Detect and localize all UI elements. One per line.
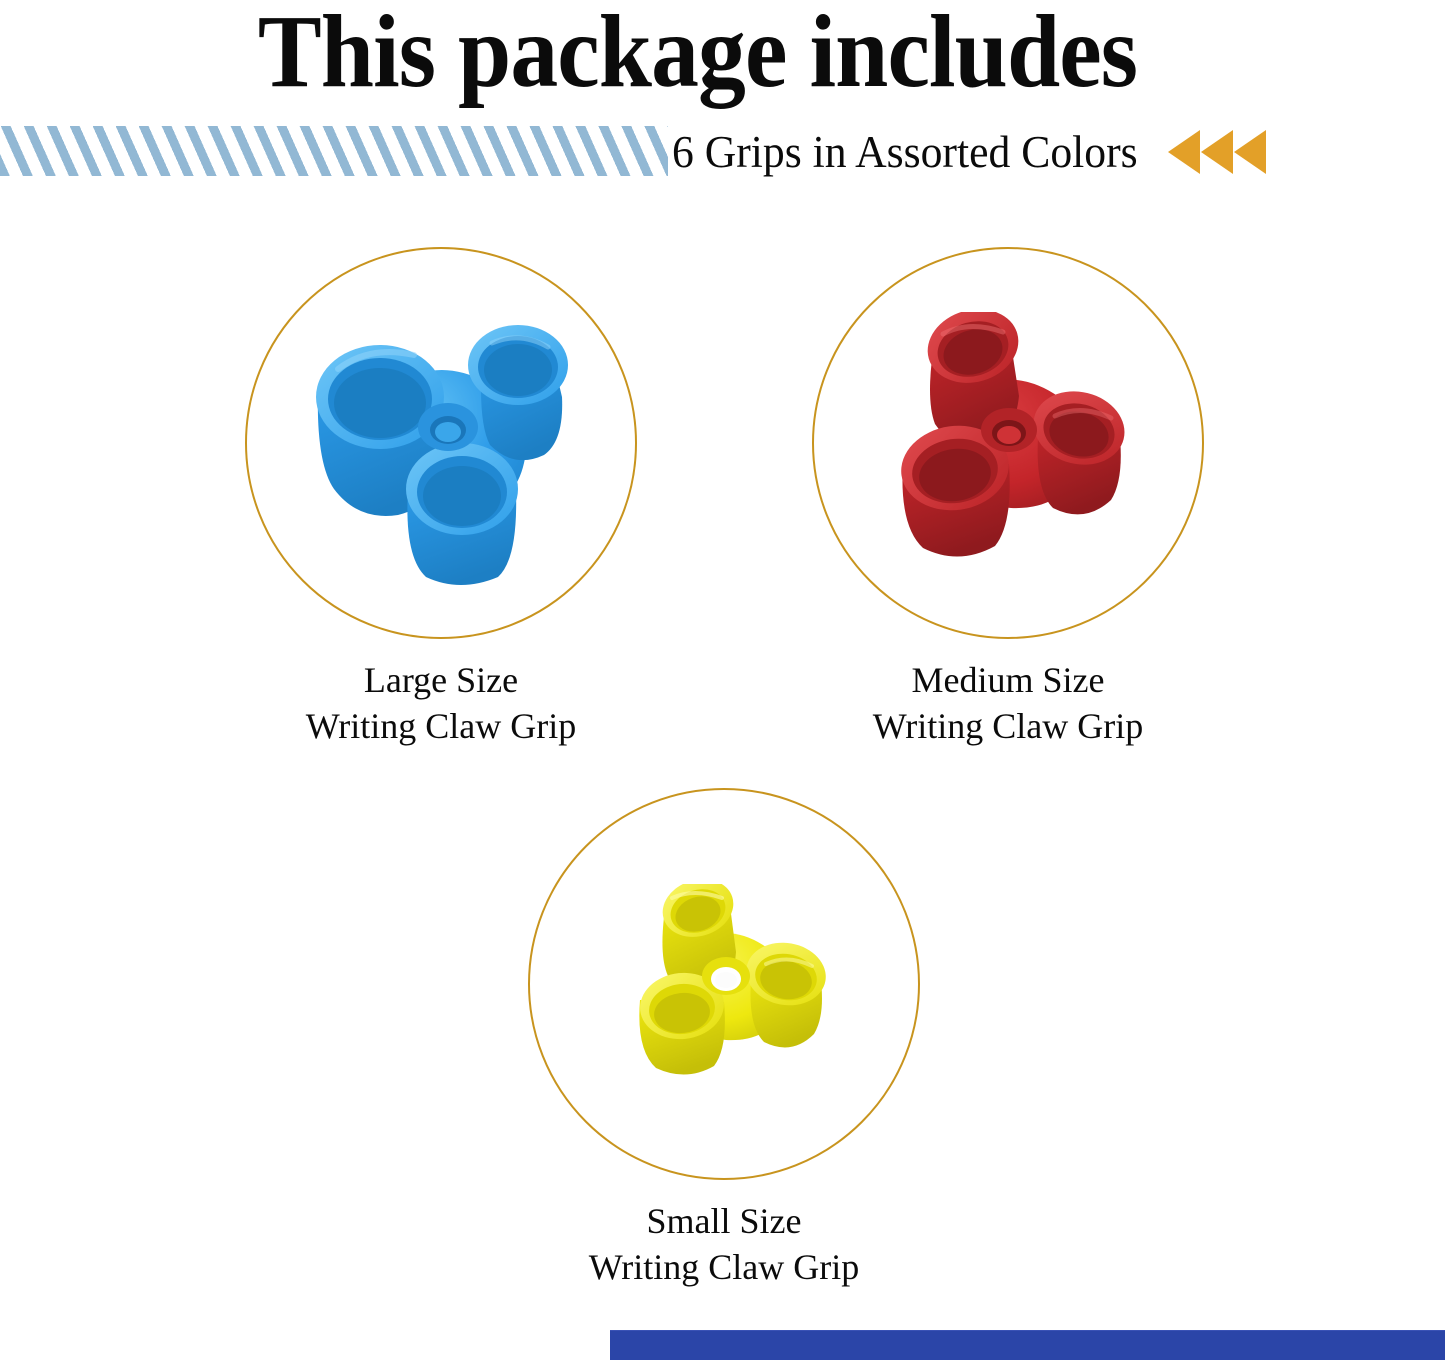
caption-small: Small Size Writing Claw Grip [528, 1198, 920, 1290]
arrow-group [1168, 130, 1266, 174]
triangle-left-icon [1234, 130, 1266, 174]
gold-ring-small [528, 788, 920, 1180]
diagonal-stripe-band [0, 126, 668, 176]
gold-ring-medium [812, 247, 1204, 639]
subtitle-row: 6 Grips in Assorted Colors [672, 125, 1382, 179]
page-title: This package includes [56, 0, 1339, 106]
caption-line-2: Writing Claw Grip [812, 703, 1204, 749]
product-card-large: Large Size Writing Claw Grip [245, 247, 637, 749]
product-image-small [530, 790, 918, 1178]
triangle-left-icon [1168, 130, 1200, 174]
caption-line-2: Writing Claw Grip [245, 703, 637, 749]
writing-claw-grip-icon [286, 293, 596, 593]
product-card-medium: Medium Size Writing Claw Grip [812, 247, 1204, 749]
product-card-small: Small Size Writing Claw Grip [528, 788, 920, 1290]
product-image-large [247, 249, 635, 637]
caption-line-1: Large Size [364, 660, 518, 700]
caption-large: Large Size Writing Claw Grip [245, 657, 637, 749]
caption-line-1: Small Size [647, 1201, 802, 1241]
gold-ring-large [245, 247, 637, 639]
triangle-left-icon [1201, 130, 1233, 174]
caption-line-1: Medium Size [912, 660, 1105, 700]
caption-line-2: Writing Claw Grip [528, 1244, 920, 1290]
writing-claw-grip-icon [618, 884, 830, 1084]
writing-claw-grip-icon [873, 312, 1143, 574]
product-image-medium [814, 249, 1202, 637]
subtitle-text: 6 Grips in Assorted Colors [672, 127, 1138, 177]
footer-bar [610, 1330, 1445, 1360]
caption-medium: Medium Size Writing Claw Grip [812, 657, 1204, 749]
infographic-page: This package includes 6 Grips in Assorte… [0, 0, 1445, 1360]
